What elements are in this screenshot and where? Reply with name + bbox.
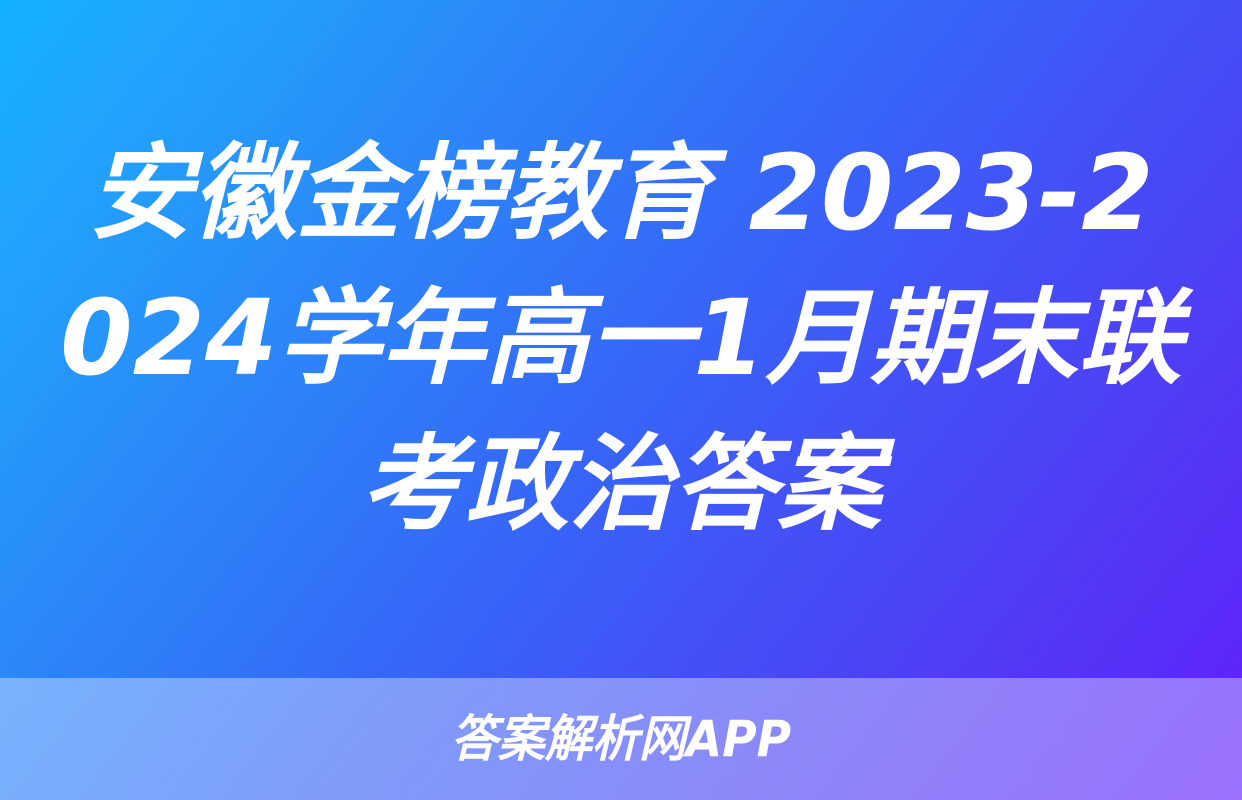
page-title: 安徽金榜教育 2023-2024学年高一1月期末联考政治答案: [58, 121, 1184, 558]
watermark-band: 答案解析网APP: [0, 678, 1242, 800]
poster-canvas: 安徽金榜教育 2023-2024学年高一1月期末联考政治答案 答案解析网APP: [0, 0, 1242, 800]
watermark-label: 答案解析网APP: [451, 714, 791, 764]
title-area: 安徽金榜教育 2023-2024学年高一1月期末联考政治答案: [0, 0, 1242, 678]
